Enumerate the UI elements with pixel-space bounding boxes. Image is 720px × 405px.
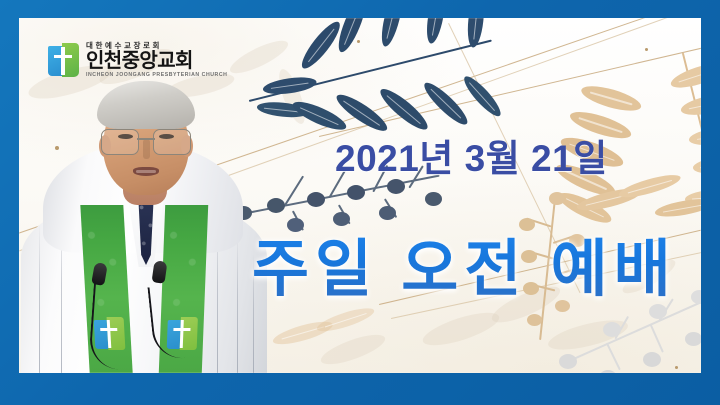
- leaf: [460, 72, 505, 120]
- berry: [685, 332, 701, 346]
- microphone-cable: [88, 281, 142, 370]
- worship-service-title-card: 주일 오전 예배 주일 오전 예배 2021년 3월 21일 대한예수교장로회 …: [0, 0, 720, 405]
- hair: [97, 81, 195, 129]
- olive-branch-navy: [245, 38, 505, 138]
- preacher-figure: [19, 83, 269, 373]
- berry: [599, 370, 617, 373]
- berry: [425, 192, 442, 206]
- church-name-english: INCHEON JOONGANG PRESBYTERIAN CHURCH: [86, 73, 227, 78]
- denomination-name: 대한예수교장로회: [86, 42, 227, 50]
- berry: [549, 192, 565, 205]
- berry: [691, 290, 701, 304]
- berry: [527, 314, 542, 326]
- berry: [347, 185, 365, 200]
- leaf: [420, 78, 472, 129]
- leaf: [688, 125, 701, 148]
- service-title: 주일 오전 예배: [252, 218, 677, 308]
- church-logo-text: 대한예수교장로회 인천중앙교회 INCHEON JOONGANG PRESBYT…: [86, 42, 227, 78]
- microphone-head: [152, 260, 168, 284]
- open-bible-cross-icon: [48, 43, 79, 77]
- branch-stem: [606, 342, 620, 370]
- branch-stem: [650, 324, 664, 352]
- content-card: 주일 오전 예배 주일 오전 예배 2021년 3월 21일 대한예수교장로회 …: [19, 18, 701, 373]
- berry: [603, 322, 621, 337]
- church-logo: 대한예수교장로회 인천중앙교회 INCHEON JOONGANG PRESBYT…: [48, 42, 227, 78]
- robe-fold: [39, 223, 40, 373]
- leaf: [692, 155, 701, 176]
- eyeglasses: [97, 129, 195, 155]
- berry: [559, 354, 577, 369]
- leaf: [579, 81, 644, 115]
- service-date: 2021년 3월 21일: [335, 128, 608, 182]
- leaf: [679, 91, 701, 119]
- berry: [643, 352, 661, 367]
- leaf: [262, 75, 318, 97]
- mouth: [133, 167, 159, 176]
- berry: [307, 192, 325, 207]
- church-name: 인천중앙교회: [86, 51, 227, 72]
- olive-branch-tan: [269, 318, 399, 368]
- berry: [267, 198, 285, 213]
- leaf: [654, 196, 701, 220]
